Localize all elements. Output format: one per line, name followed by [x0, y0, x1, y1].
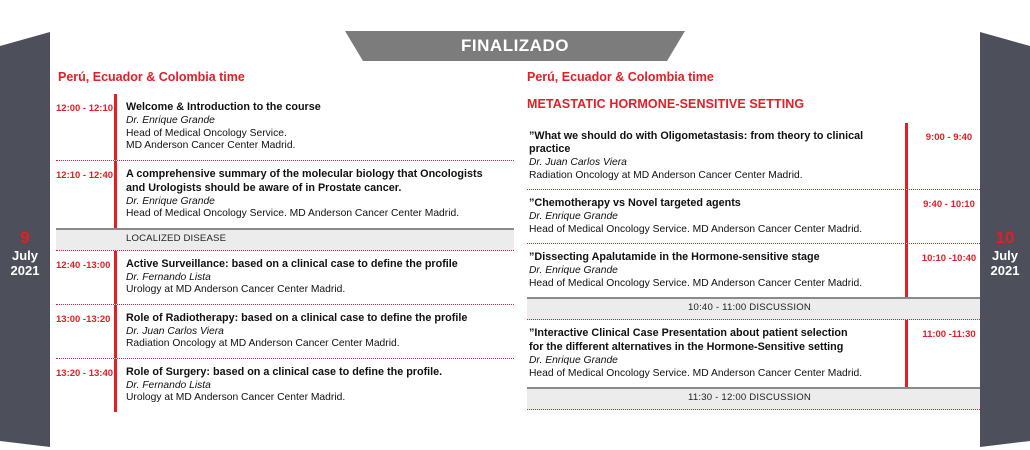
date-month-right: July: [980, 248, 1030, 263]
agenda-row[interactable]: ”What we should do with Oligometastasis:…: [527, 123, 982, 190]
agenda-row-time: 9:40 - 10:10: [908, 190, 982, 243]
date-day-left: 9: [0, 228, 50, 248]
timezone-label-left: Perú, Ecuador & Colombia time: [56, 70, 514, 84]
agenda-row-affiliation: Head of Medical Oncology Service.: [126, 128, 514, 141]
agenda-row-content: ”What we should do with Oligometastasis:…: [527, 123, 905, 189]
agenda-row[interactable]: ”Dissecting Apalutamide in the Hormone-s…: [527, 244, 982, 297]
date-year-right: 2021: [980, 263, 1030, 278]
agenda-row[interactable]: 12:10 - 12:40 A comprehensive summary of…: [56, 161, 514, 228]
agenda-rows-right-bottom: ”Interactive Clinical Case Presentation …: [527, 320, 982, 387]
agenda-row-content: Welcome & Introduction to the course Dr.…: [117, 94, 514, 160]
section-band-label: LOCALIZED DISEASE: [126, 233, 226, 244]
agenda-row-title: ”Chemotherapy vs Novel targeted agents: [529, 197, 896, 210]
date-panel-left-inner: 9 July 2021: [0, 228, 50, 279]
section-band-localized-disease: LOCALIZED DISEASE: [56, 228, 514, 251]
agenda-row-title: ”Dissecting Apalutamide in the Hormone-s…: [529, 251, 896, 264]
agenda-row-affiliation: Head of Medical Oncology Service. MD And…: [126, 208, 514, 221]
discussion-band-label: 10:40 - 11:00 DISCUSSION: [527, 302, 982, 313]
agenda-row-affiliation: Urology at MD Anderson Cancer Center Mad…: [126, 392, 514, 405]
agenda-row-title: Welcome & Introduction to the course: [126, 101, 514, 114]
agenda-row-speaker: Dr. Enrique Grande: [529, 265, 896, 278]
agenda-row-title: Active Surveillance: based on a clinical…: [126, 258, 514, 271]
agenda-row-content: ”Dissecting Apalutamide in the Hormone-s…: [527, 244, 905, 297]
date-panel-left: 9 July 2021: [0, 32, 50, 447]
agenda-row-time: 13:00 -13:20: [56, 305, 114, 358]
agenda-column-right: Perú, Ecuador & Colombia time METASTATIC…: [527, 70, 982, 410]
discussion-band-label: 11:30 - 12:00 DISCUSSION: [527, 392, 982, 403]
timezone-label-right: Perú, Ecuador & Colombia time: [527, 70, 982, 84]
agenda-row[interactable]: 12:40 -13:00 Active Surveillance: based …: [56, 251, 514, 305]
agenda-row-content: Role of Radiotherapy: based on a clinica…: [117, 305, 514, 358]
agenda-column-left: Perú, Ecuador & Colombia time 12:00 - 12…: [56, 70, 514, 412]
agenda-row-affiliation: Urology at MD Anderson Cancer Center Mad…: [126, 284, 514, 297]
date-year-left: 2021: [0, 263, 50, 278]
agenda-row[interactable]: 13:20 - 13:40 Role of Surgery: based on …: [56, 359, 514, 412]
agenda-row-title: Role of Radiotherapy: based on a clinica…: [126, 312, 514, 325]
status-banner: FINALIZADO: [345, 31, 685, 61]
agenda-row-content: A comprehensive summary of the molecular…: [117, 161, 514, 228]
agenda-row[interactable]: 13:00 -13:20 Role of Radiotherapy: based…: [56, 305, 514, 359]
agenda-row-content: Active Surveillance: based on a clinical…: [117, 251, 514, 304]
agenda-row[interactable]: ”Interactive Clinical Case Presentation …: [527, 320, 982, 387]
agenda-row-content: Role of Surgery: based on a clinical cas…: [117, 359, 514, 412]
agenda-row-time: 12:40 -13:00: [56, 251, 114, 304]
agenda-row-title: ”What we should do with Oligometastasis:…: [529, 130, 896, 156]
agenda-row-speaker: Dr. Enrique Grande: [529, 211, 896, 224]
agenda-row[interactable]: ”Chemotherapy vs Novel targeted agents D…: [527, 190, 982, 244]
agenda-row-speaker: Dr. Enrique Grande: [126, 115, 514, 128]
agenda-stage: 9 July 2021 10 July 2021 FINALIZADO Perú…: [0, 0, 1030, 450]
agenda-row-time: 11:00 -11:30: [908, 320, 982, 387]
agenda-row[interactable]: 12:00 - 12:10 Welcome & Introduction to …: [56, 94, 514, 161]
agenda-row-speaker: Dr. Fernando Lista: [126, 380, 514, 393]
section-title-metastatic: METASTATIC HORMONE-SENSITIVE SETTING: [527, 97, 982, 111]
agenda-row-speaker: Dr. Enrique Grande: [529, 355, 896, 368]
agenda-row-content: ”Chemotherapy vs Novel targeted agents D…: [527, 190, 905, 243]
discussion-band-2: 11:30 - 12:00 DISCUSSION: [527, 387, 982, 410]
agenda-rows-left-bottom: 12:40 -13:00 Active Surveillance: based …: [56, 251, 514, 412]
agenda-row-time: 12:00 - 12:10: [56, 94, 114, 160]
agenda-row-affiliation: Head of Medical Oncology Service. MD And…: [529, 368, 896, 381]
agenda-row-affiliation: Head of Medical Oncology Service. MD And…: [529, 278, 896, 291]
agenda-row-speaker: Dr. Fernando Lista: [126, 272, 514, 285]
agenda-row-speaker: Dr. Juan Carlos Viera: [529, 157, 896, 170]
agenda-row-time: 9:00 - 9:40: [908, 123, 982, 189]
agenda-row-title-2: and Urologists should be aware of in Pro…: [126, 182, 514, 195]
agenda-rows-left-top: 12:00 - 12:10 Welcome & Introduction to …: [56, 94, 514, 228]
date-day-right: 10: [980, 228, 1030, 248]
agenda-row-speaker: Dr. Enrique Grande: [126, 196, 514, 209]
status-banner-label: FINALIZADO: [345, 31, 685, 61]
agenda-row-affiliation: Radiation Oncology at MD Anderson Cancer…: [126, 338, 514, 351]
agenda-row-speaker: Dr. Juan Carlos Viera: [126, 326, 514, 339]
discussion-band-1: 10:40 - 11:00 DISCUSSION: [527, 297, 982, 320]
agenda-rows-right-top: ”What we should do with Oligometastasis:…: [527, 123, 982, 297]
agenda-row-affiliation: Head of Medical Oncology Service. MD And…: [529, 224, 896, 237]
agenda-row-time: 13:20 - 13:40: [56, 359, 114, 412]
agenda-row-time: 12:10 - 12:40: [56, 161, 114, 228]
agenda-row-affiliation-2: MD Anderson Cancer Center Madrid.: [126, 140, 514, 153]
agenda-row-title-2: for the different alternatives in the Ho…: [529, 341, 896, 354]
date-panel-right-inner: 10 July 2021: [980, 228, 1030, 279]
agenda-row-content: ”Interactive Clinical Case Presentation …: [527, 320, 905, 387]
agenda-row-time: 10:10 -10:40: [908, 244, 982, 297]
agenda-row-title: Role of Surgery: based on a clinical cas…: [126, 366, 514, 379]
agenda-row-affiliation: Radiation Oncology at MD Anderson Cancer…: [529, 170, 896, 183]
date-panel-right: 10 July 2021: [980, 32, 1030, 447]
agenda-row-title: A comprehensive summary of the molecular…: [126, 168, 514, 181]
agenda-row-title: ”Interactive Clinical Case Presentation …: [529, 327, 896, 340]
date-month-left: July: [0, 248, 50, 263]
